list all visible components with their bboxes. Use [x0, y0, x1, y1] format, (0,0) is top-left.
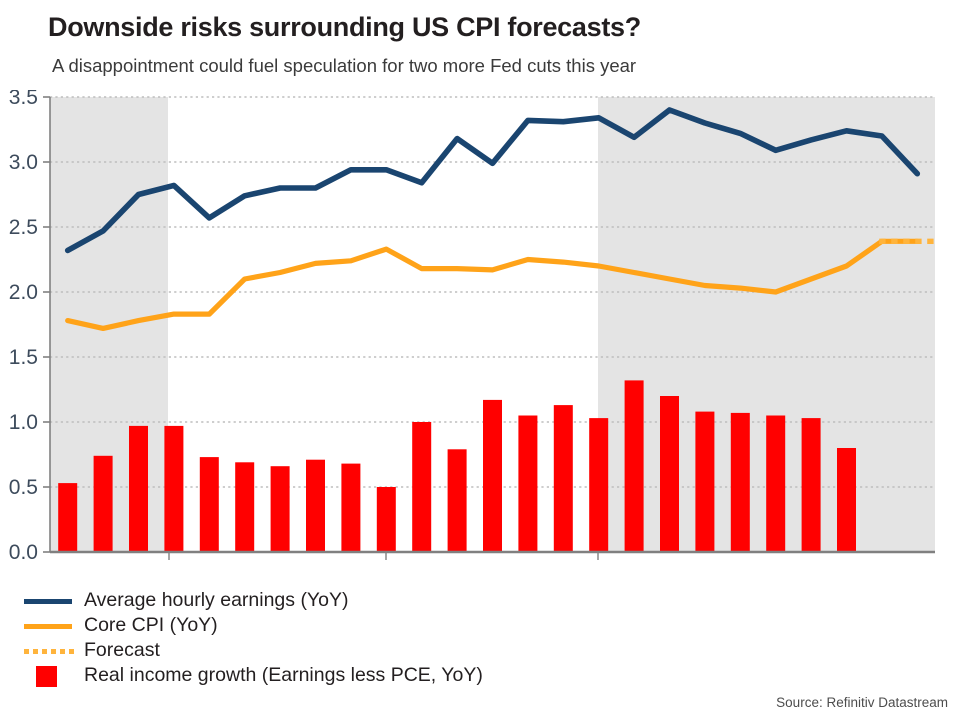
- solid-line-icon: [22, 590, 74, 612]
- solid-line-icon: [22, 615, 74, 637]
- chart-page: Downside risks surrounding US CPI foreca…: [0, 0, 960, 720]
- legend-item-core-cpi: Core CPI (YoY): [22, 613, 722, 638]
- svg-text:1.0: 1.0: [9, 411, 38, 434]
- chart-svg: 0.00.51.01.52.02.53.03.5 201720182019: [0, 90, 960, 560]
- legend-item-label: Real income growth (Earnings less PCE, Y…: [84, 664, 483, 687]
- dotted-line-icon: [22, 640, 74, 662]
- page-title: Downside risks surrounding US CPI foreca…: [48, 12, 641, 43]
- y-axis-tick-labels: 0.00.51.01.52.02.53.03.5: [9, 90, 38, 560]
- svg-text:0.0: 0.0: [9, 541, 38, 560]
- plot-area: 0.00.51.01.52.02.53.03.5 201720182019: [0, 90, 960, 560]
- svg-text:3.0: 3.0: [9, 151, 38, 174]
- source-label: Source: Refinitiv Datastream: [776, 695, 948, 710]
- legend-item-average-hourly-earnings: Average hourly earnings (YoY): [22, 588, 722, 613]
- svg-text:3.5: 3.5: [9, 90, 38, 109]
- legend-item-real-income-growth: Real income growth (Earnings less PCE, Y…: [22, 663, 722, 688]
- square-swatch-icon: [22, 665, 74, 687]
- legend-item-forecast: Forecast: [22, 638, 722, 663]
- svg-text:2.0: 2.0: [9, 281, 38, 304]
- chart-legend: Average hourly earnings (YoY) Core CPI (…: [22, 588, 722, 688]
- legend-item-label: Forecast: [84, 639, 160, 662]
- legend-item-label: Average hourly earnings (YoY): [84, 589, 349, 612]
- svg-text:1.5: 1.5: [9, 346, 38, 369]
- chart-subtitle: A disappointment could fuel speculation …: [52, 55, 636, 77]
- svg-text:2.5: 2.5: [9, 216, 38, 239]
- svg-text:0.5: 0.5: [9, 476, 38, 499]
- legend-item-label: Core CPI (YoY): [84, 614, 218, 637]
